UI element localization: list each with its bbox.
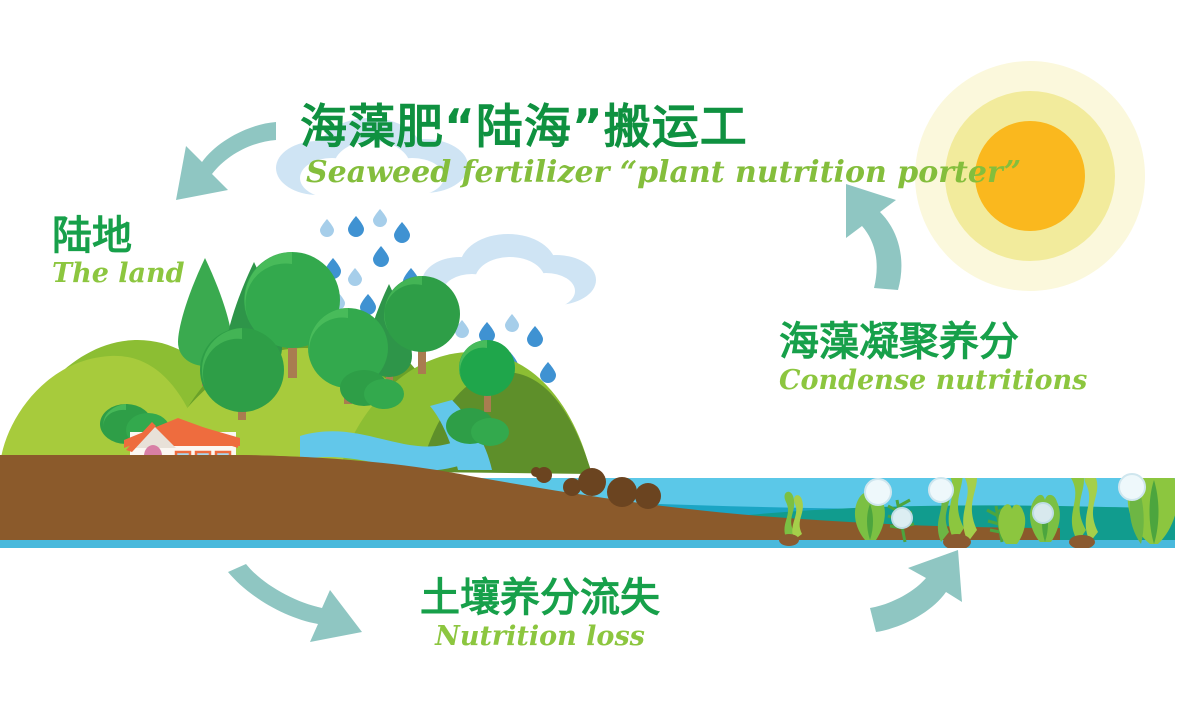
label-loss-en: Nutrition loss (420, 623, 660, 651)
arrow-top-left (176, 122, 276, 200)
label-condense-en: Condense nutritions (779, 367, 1087, 395)
label-loss-zh: 土壤养分流失 (420, 578, 660, 620)
arrow-bottom-right (870, 550, 962, 632)
main-title-zh: 海藻肥“陆海”搬运工 (300, 104, 1021, 153)
label-condense-zh: 海藻凝聚养分 (779, 322, 1087, 364)
label-land-zh: 陆地 (52, 216, 185, 258)
label-condense-nutritions: 海藻凝聚养分 Condense nutritions (779, 322, 1087, 395)
main-title: 海藻肥“陆海”搬运工 Seaweed fertilizer “plant nut… (300, 104, 1021, 188)
arrow-top-right (846, 184, 901, 290)
label-land: 陆地 The land (52, 216, 185, 288)
arrow-bottom-left (228, 564, 362, 642)
main-title-en: Seaweed fertilizer “plant nutrition port… (306, 157, 1021, 188)
label-nutrition-loss: 土壤养分流失 Nutrition loss (420, 578, 660, 651)
water-bottom-strip (0, 540, 1175, 548)
label-land-en: The land (52, 260, 185, 288)
infographic-canvas: 海藻肥“陆海”搬运工 Seaweed fertilizer “plant nut… (0, 0, 1200, 721)
kelp-strand (938, 456, 977, 550)
